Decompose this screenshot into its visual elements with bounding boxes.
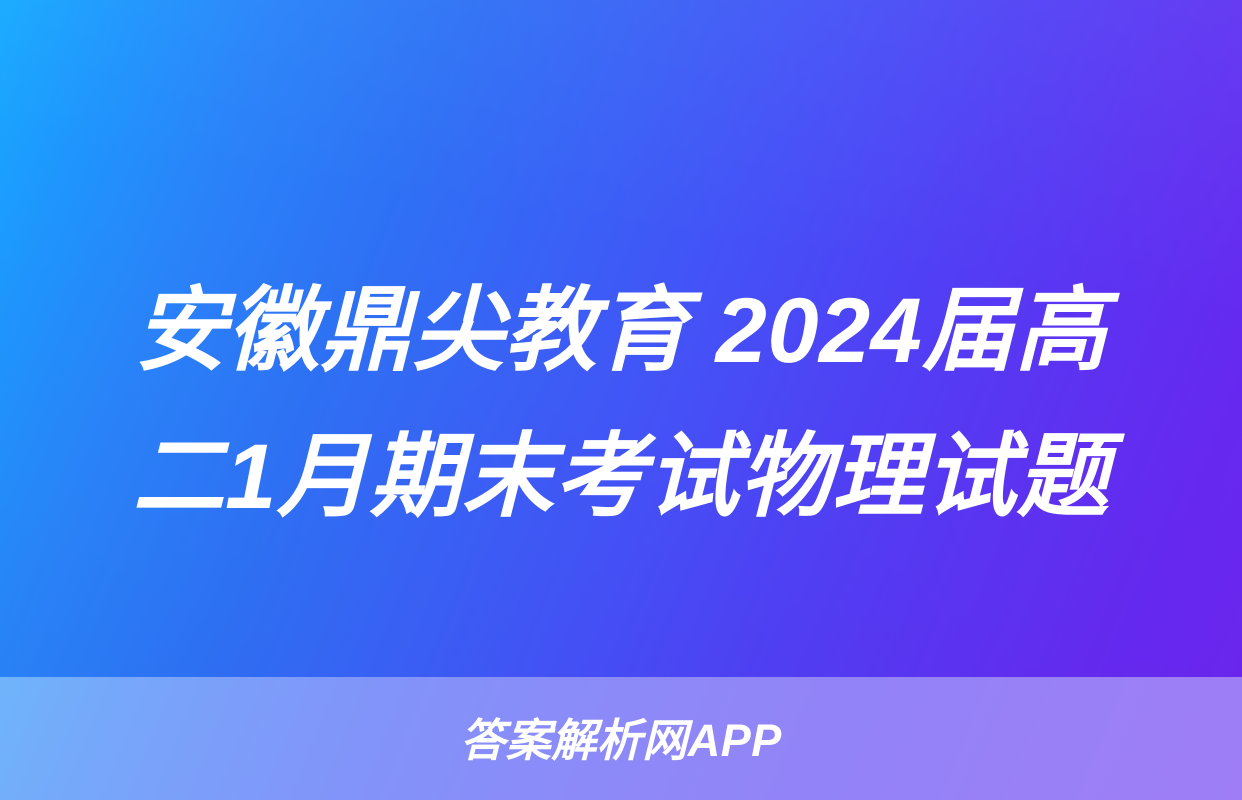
exam-title-card: 安徽鼎尖教育 2024届高 二1月期末考试物理试题 答案解析网APP [0,0,1242,800]
page-title: 安徽鼎尖教育 2024届高 二1月期末考试物理试题 [0,258,1242,550]
page-title-line-1: 安徽鼎尖教育 2024届高 [24,258,1218,404]
page-title-line-2: 二1月期末考试物理试题 [24,404,1218,550]
footer-brand-band: 答案解析网APP [0,677,1242,800]
hero-gradient-banner: 安徽鼎尖教育 2024届高 二1月期末考试物理试题 [0,0,1242,677]
app-brand-label: 答案解析网APP [460,715,782,767]
